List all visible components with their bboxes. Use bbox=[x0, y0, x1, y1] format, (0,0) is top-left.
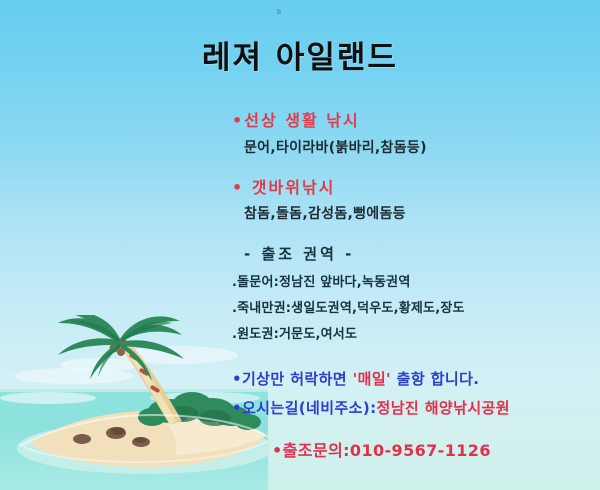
section-heading-boat-fishing: •선상 생활 낚시 bbox=[232, 112, 592, 130]
region-section-title: - 출조 권역 - bbox=[244, 243, 592, 264]
region-item-dolmuneo: .돌문어:정남진 앞바다,녹동권역 bbox=[232, 271, 592, 290]
region-item-juknaeman: .죽내만권:생일도권역,덕우도,황제도,장도 bbox=[232, 297, 592, 316]
content-block: •선상 생활 낚시 문어,타이라바(붉바리,참돔등) • 갯바위낚시 참돔,돌돔… bbox=[232, 112, 592, 418]
poster-canvas: 레져 아일랜드 •선상 생활 낚시 문어,타이라바(붉바리,참돔등) • 갯바위… bbox=[0, 0, 600, 490]
island-illustration bbox=[0, 315, 270, 490]
region-item-wondo: .원도권:거문도,여서도 bbox=[232, 323, 592, 342]
spacer bbox=[232, 157, 592, 179]
section-heading-rock-fishing: • 갯바위낚시 bbox=[232, 179, 592, 197]
notice-departure-emphasis: '매일' bbox=[353, 370, 391, 388]
spacer bbox=[232, 342, 592, 368]
dust-speck-icon bbox=[277, 9, 281, 14]
notice-directions: •오시는길(네비주소):정남진 해양낚시공원 bbox=[232, 397, 592, 418]
section-detail-rock-fishing: 참돔,돌돔,감성돔,뻥에돔등 bbox=[244, 203, 592, 223]
page-title: 레져 아일랜드 bbox=[0, 32, 600, 77]
spacer bbox=[232, 223, 592, 243]
section-detail-boat-fishing: 문어,타이라바(붉바리,참돔등) bbox=[244, 137, 592, 157]
notice-directions-address: 정남진 해양낚시공원 bbox=[377, 399, 510, 417]
notice-departure: •기상만 허락하면 '매일' 출항 합니다. bbox=[232, 368, 592, 389]
notice-directions-prefix: •오시는길(네비주소): bbox=[232, 399, 377, 417]
notice-departure-prefix: •기상만 허락하면 bbox=[232, 370, 353, 388]
notice-departure-suffix: 출항 합니다. bbox=[391, 370, 479, 388]
contact-phone[interactable]: •출조문의:010-9567-1126 bbox=[272, 437, 491, 461]
